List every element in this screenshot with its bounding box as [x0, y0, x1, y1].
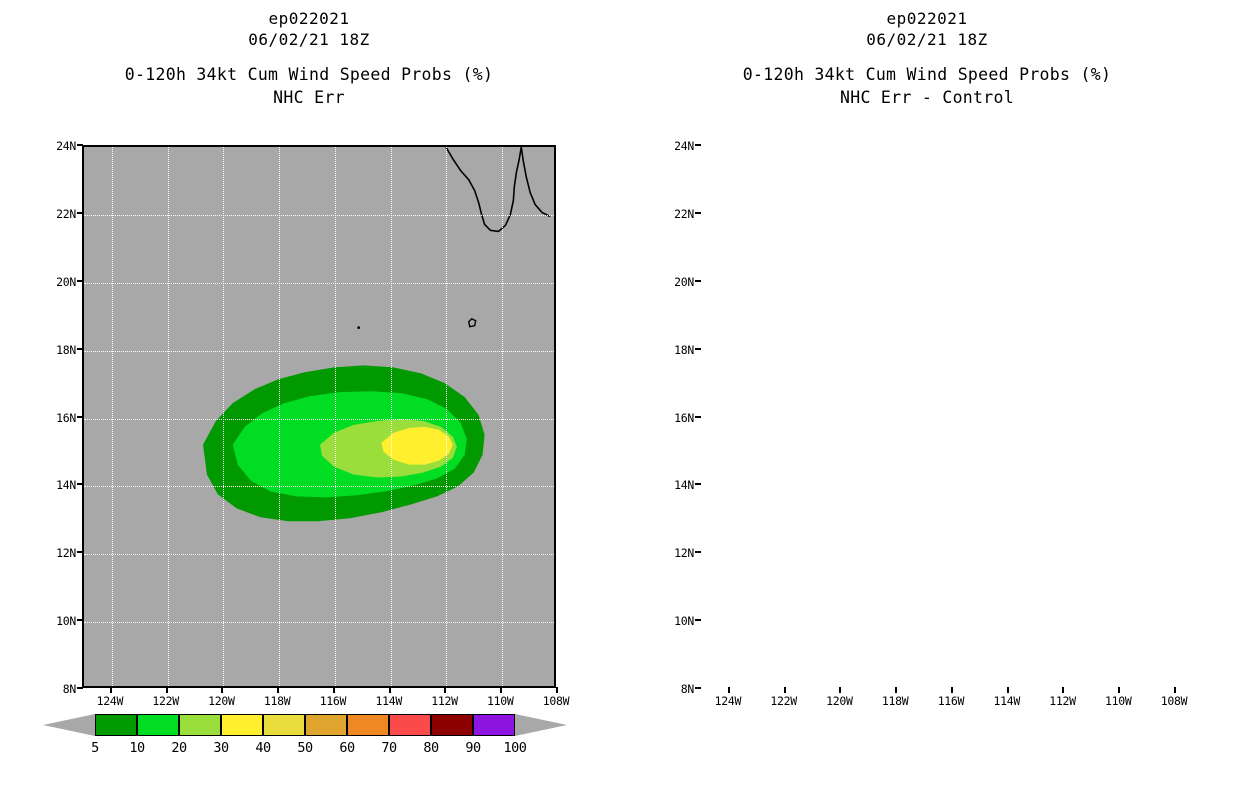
- gridline-vertical: [391, 147, 392, 686]
- y-axis-tick-label-left: 20N: [30, 275, 76, 289]
- x-axis-tick-label-left: 124W: [87, 694, 133, 708]
- x-axis-tick-label-right: 122W: [761, 694, 807, 708]
- y-axis-tick-mark: [77, 551, 83, 553]
- colorbar-segment: [473, 714, 515, 736]
- chart-title-left: 0-120h 34kt Cum Wind Speed Probs (%): [0, 62, 618, 87]
- island-marker-b: [469, 319, 476, 327]
- x-axis-tick-label-right: 114W: [984, 694, 1030, 708]
- colorbar-segment: [179, 714, 221, 736]
- x-axis-tick-mark: [1062, 687, 1064, 693]
- x-axis-tick-mark: [444, 687, 446, 693]
- y-axis-tick-label-left: 10N: [30, 614, 76, 628]
- coastline-overlay-left: [84, 147, 554, 686]
- colorbar-tick-label: 100: [490, 740, 540, 756]
- y-axis-tick-label-right: 12N: [648, 546, 694, 560]
- y-axis-tick-label-right: 16N: [648, 411, 694, 425]
- gridline-vertical: [279, 147, 280, 686]
- datetime-right: 06/02/21 18Z: [618, 29, 1236, 50]
- y-axis-tick-mark: [77, 483, 83, 485]
- colorbar-segment: [95, 714, 137, 736]
- gridline-horizontal: [84, 283, 554, 284]
- gridline-horizontal: [84, 215, 554, 216]
- x-axis-tick-mark: [1118, 687, 1120, 693]
- x-axis-tick-label-left: 120W: [198, 694, 244, 708]
- colorbar-segment: [305, 714, 347, 736]
- y-axis-tick-mark: [695, 280, 701, 282]
- gridline-horizontal: [84, 554, 554, 555]
- y-axis-tick-mark: [77, 144, 83, 146]
- y-axis-tick-mark: [77, 619, 83, 621]
- x-axis-tick-mark: [895, 687, 897, 693]
- y-axis-tick-mark: [77, 212, 83, 214]
- gridline-vertical: [335, 147, 336, 686]
- y-axis-tick-label-right: 24N: [648, 139, 694, 153]
- y-axis-tick-mark: [695, 416, 701, 418]
- y-axis-tick-label-left: 14N: [30, 478, 76, 492]
- y-axis-tick-mark: [695, 348, 701, 350]
- storm-id-right: ep022021: [618, 8, 1236, 29]
- y-axis-tick-mark: [695, 212, 701, 214]
- y-axis-tick-mark: [77, 687, 83, 689]
- y-axis-tick-mark: [77, 348, 83, 350]
- y-axis-tick-mark: [695, 551, 701, 553]
- chart-title-right: 0-120h 34kt Cum Wind Speed Probs (%): [618, 62, 1236, 87]
- gridline-horizontal: [84, 622, 554, 623]
- x-axis-tick-label-left: 116W: [310, 694, 356, 708]
- gridline-vertical: [502, 147, 503, 686]
- gridline-vertical: [223, 147, 224, 686]
- island-marker-a: [357, 326, 360, 329]
- chart-subtitle-left: NHC Err: [0, 87, 618, 109]
- y-axis-tick-label-left: 22N: [30, 207, 76, 221]
- x-axis-tick-mark: [784, 687, 786, 693]
- panel-right-titles: ep022021 06/02/21 18Z 0-120h 34kt Cum Wi…: [618, 8, 1236, 109]
- y-axis-tick-mark: [695, 483, 701, 485]
- x-axis-tick-mark: [951, 687, 953, 693]
- x-axis-tick-mark: [389, 687, 391, 693]
- y-axis-tick-mark: [695, 619, 701, 621]
- x-axis-tick-mark: [556, 687, 558, 693]
- x-axis-tick-mark: [500, 687, 502, 693]
- gridline-vertical: [168, 147, 169, 686]
- x-axis-tick-mark: [166, 687, 168, 693]
- x-axis-tick-label-left: 112W: [421, 694, 467, 708]
- x-axis-tick-label-left: 118W: [254, 694, 300, 708]
- colorbar-segment: [389, 714, 431, 736]
- x-axis-tick-label-left: 108W: [533, 694, 579, 708]
- colorbar-segment: [137, 714, 179, 736]
- colorbar-cap-high: [515, 714, 567, 736]
- x-axis-tick-mark: [1007, 687, 1009, 693]
- x-axis-tick-mark: [333, 687, 335, 693]
- x-axis-tick-mark: [728, 687, 730, 693]
- gridline-vertical: [446, 147, 447, 686]
- datetime-left: 06/02/21 18Z: [0, 29, 618, 50]
- y-axis-tick-label-right: 14N: [648, 478, 694, 492]
- y-axis-tick-mark: [77, 280, 83, 282]
- y-axis-tick-mark: [695, 144, 701, 146]
- colorbar-segment: [263, 714, 305, 736]
- colorbar-segment: [221, 714, 263, 736]
- x-axis-tick-mark: [277, 687, 279, 693]
- gridline-horizontal: [84, 351, 554, 352]
- x-axis-tick-mark: [839, 687, 841, 693]
- y-axis-tick-label-left: 16N: [30, 411, 76, 425]
- y-axis-tick-mark: [695, 687, 701, 689]
- panel-nhc-err-minus-control: ep022021 06/02/21 18Z 0-120h 34kt Cum Wi…: [618, 0, 1236, 800]
- colorbar-cap-low: [43, 714, 95, 736]
- x-axis-tick-label-left: 122W: [143, 694, 189, 708]
- gridline-horizontal: [84, 419, 554, 420]
- y-axis-tick-label-right: 10N: [648, 614, 694, 628]
- chart-subtitle-right: NHC Err - Control: [618, 87, 1236, 109]
- y-axis-tick-label-left: 24N: [30, 139, 76, 153]
- y-axis-tick-mark: [77, 416, 83, 418]
- gridline-horizontal: [84, 486, 554, 487]
- x-axis-tick-label-right: 116W: [928, 694, 974, 708]
- y-axis-tick-label-right: 18N: [648, 343, 694, 357]
- x-axis-tick-label-right: 108W: [1151, 694, 1197, 708]
- x-axis-tick-label-right: 120W: [816, 694, 862, 708]
- x-axis-tick-label-left: 110W: [477, 694, 523, 708]
- y-axis-tick-label-left: 8N: [30, 682, 76, 696]
- colorbar-segment: [431, 714, 473, 736]
- colorbar-segment: [347, 714, 389, 736]
- storm-id-left: ep022021: [0, 8, 618, 29]
- x-axis-tick-label-right: 110W: [1095, 694, 1141, 708]
- panel-left-titles: ep022021 06/02/21 18Z 0-120h 34kt Cum Wi…: [0, 8, 618, 109]
- gridline-vertical: [112, 147, 113, 686]
- x-axis-tick-label-right: 124W: [705, 694, 751, 708]
- panel-nhc-err: ep022021 06/02/21 18Z 0-120h 34kt Cum Wi…: [0, 0, 618, 800]
- y-axis-tick-label-left: 12N: [30, 546, 76, 560]
- x-axis-tick-mark: [110, 687, 112, 693]
- x-axis-tick-mark: [1174, 687, 1176, 693]
- colorbar-probability: 5102030405060708090100: [95, 714, 515, 736]
- x-axis-tick-label-left: 114W: [366, 694, 412, 708]
- x-axis-tick-label-right: 118W: [872, 694, 918, 708]
- y-axis-tick-label-right: 22N: [648, 207, 694, 221]
- map-plot-nhc-err: [82, 145, 556, 688]
- forecast-probability-figure: ep022021 06/02/21 18Z 0-120h 34kt Cum Wi…: [0, 0, 1236, 800]
- y-axis-tick-label-right: 20N: [648, 275, 694, 289]
- x-axis-tick-label-right: 112W: [1039, 694, 1085, 708]
- x-axis-tick-mark: [221, 687, 223, 693]
- y-axis-tick-label-left: 18N: [30, 343, 76, 357]
- y-axis-tick-label-right: 8N: [648, 682, 694, 696]
